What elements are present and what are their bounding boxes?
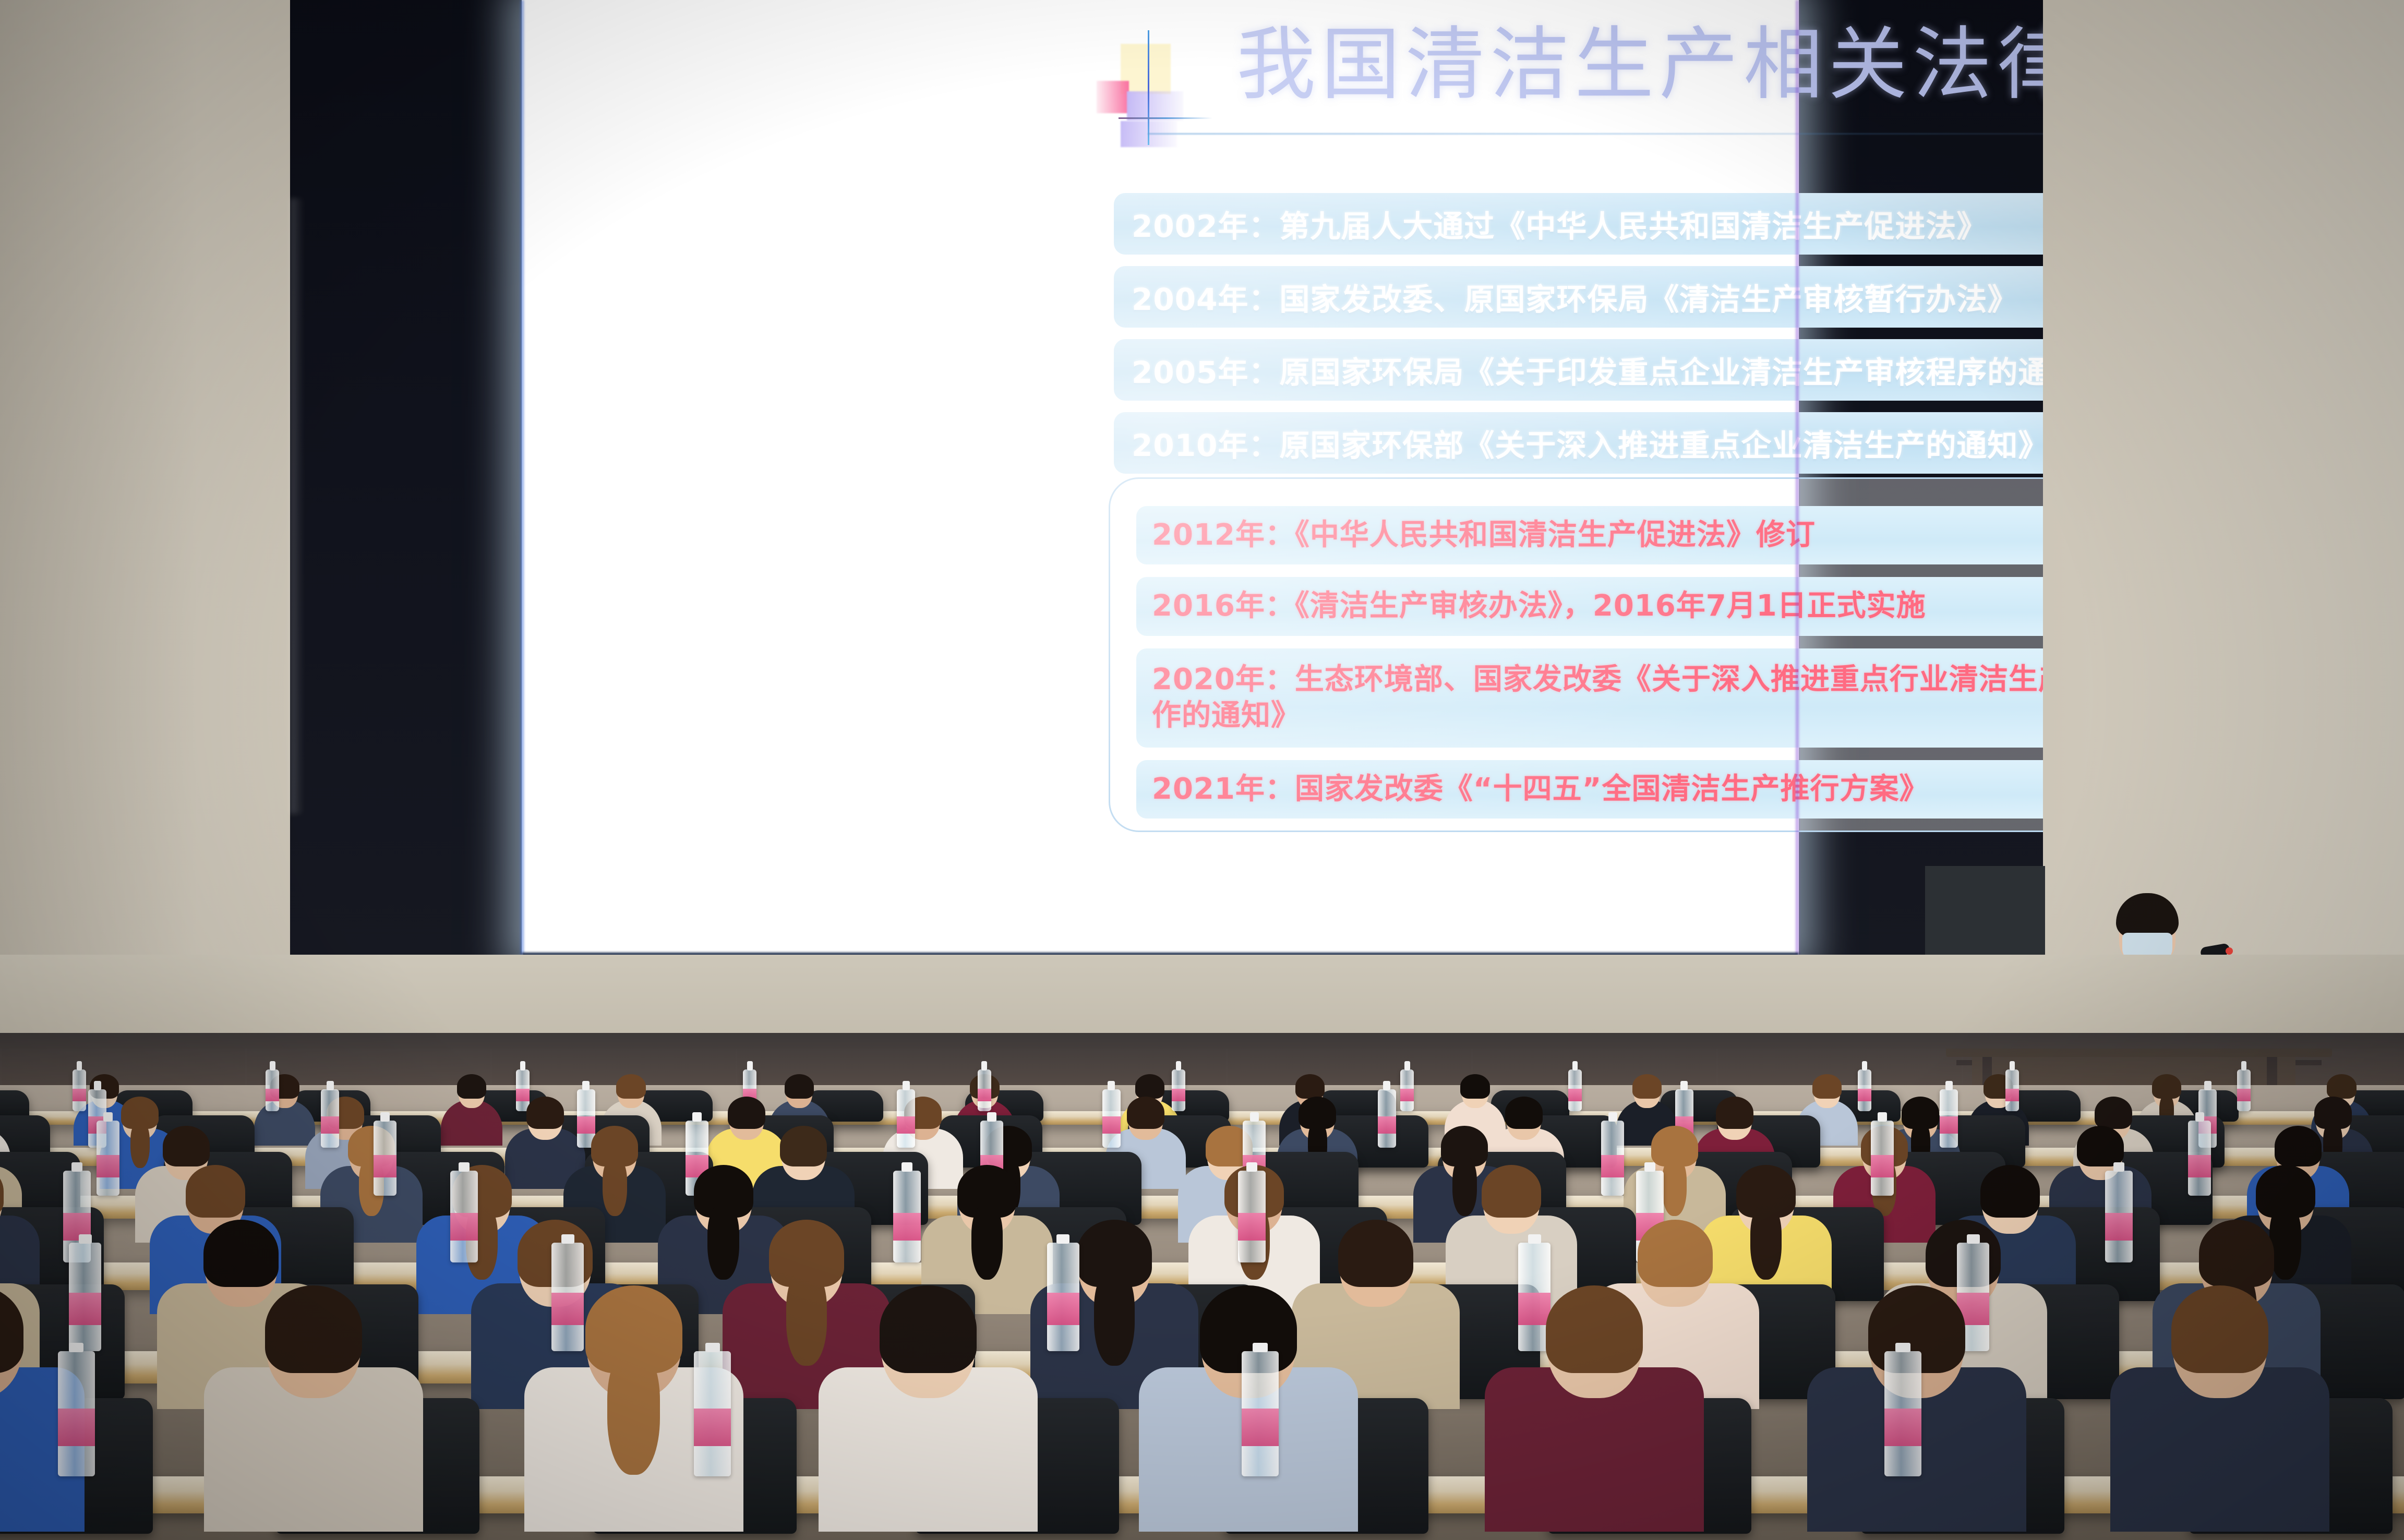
screen-right-edge bbox=[1796, 0, 1799, 956]
bottle-label bbox=[1047, 1293, 1079, 1325]
audience-person-hair bbox=[880, 1285, 977, 1373]
audience-person-hair bbox=[2077, 1126, 2124, 1166]
water-bottle bbox=[2188, 1121, 2211, 1196]
water-bottle bbox=[374, 1121, 396, 1196]
audience-person-hair bbox=[1135, 1074, 1164, 1099]
water-bottle bbox=[897, 1089, 915, 1148]
audience-person-hair bbox=[2095, 1097, 2132, 1129]
audience-person-ponytail bbox=[786, 1269, 826, 1366]
audience-person-hair bbox=[1460, 1074, 1489, 1099]
timeline-top-group: 2002年：第九届人大通过《中华人民共和国清洁生产促进法》 2004年：国家发改… bbox=[1114, 193, 2173, 485]
audience-person-ponytail bbox=[971, 1204, 1003, 1280]
water-bottle bbox=[321, 1089, 339, 1148]
bottle-label bbox=[1238, 1213, 1266, 1241]
bottle-label bbox=[978, 1089, 991, 1101]
projection-screen: 我国清洁生产相关法律沿革 2002年：第九届人大通过《中华人民共和国清洁生产促进… bbox=[522, 0, 1799, 956]
bottle-label bbox=[2188, 1155, 2211, 1177]
microphone-tip-icon bbox=[2226, 947, 2233, 955]
timeline-item-label: 2012年：《中华人民共和国清洁生产促进法》修订 bbox=[1152, 518, 1816, 553]
bottle-label bbox=[2237, 1089, 2251, 1101]
bottle-label bbox=[1601, 1155, 1624, 1177]
timeline-item: 2021年：国家发改委《“十四五”全国清洁生产推行方案》 bbox=[1136, 760, 2174, 819]
bottle-label bbox=[1400, 1089, 1414, 1101]
timeline-item-label: 2005年：原国家环保局《关于印发重点企业清洁生产审核程序的通知》 bbox=[1132, 348, 2110, 392]
water-bottle bbox=[694, 1351, 731, 1476]
audience-person-hair bbox=[1638, 1220, 1713, 1287]
water-bottle bbox=[2005, 1069, 2019, 1111]
bottle-label bbox=[1871, 1155, 1894, 1177]
audience-person-hair bbox=[186, 1165, 245, 1218]
water-bottle bbox=[2237, 1069, 2251, 1111]
audience-person-ponytail bbox=[603, 1157, 627, 1216]
audience-person-hair bbox=[2171, 1285, 2268, 1373]
water-bottle bbox=[69, 1243, 101, 1351]
audience-person-hair bbox=[1505, 1097, 1543, 1129]
water-bottle bbox=[266, 1069, 279, 1111]
bottle-label bbox=[1242, 1409, 1279, 1446]
timeline-item: 2012年：《中华人民共和国清洁生产促进法》修订 bbox=[1136, 506, 2174, 564]
audience-person-ponytail bbox=[1750, 1204, 1782, 1280]
audience-person-hair bbox=[1632, 1074, 1662, 1099]
water-bottle bbox=[73, 1069, 86, 1111]
logo-square-pink bbox=[1097, 81, 1129, 113]
water-bottle bbox=[97, 1121, 119, 1196]
water-bottle bbox=[58, 1351, 95, 1476]
timeline-item-label: 2002年：第九届人大通过《中华人民共和国清洁生产促进法》 bbox=[1132, 202, 1987, 246]
screen-left-edge bbox=[521, 0, 524, 956]
water-bottle bbox=[1378, 1089, 1396, 1148]
podium-back-wall bbox=[2043, 0, 2404, 991]
water-bottle bbox=[1871, 1121, 1894, 1196]
timeline-item-label: 2004年：国家发改委、原国家环保局《清洁生产审核暂行办法》 bbox=[1132, 275, 2018, 319]
audience-person-hair bbox=[163, 1126, 210, 1166]
bottle-label bbox=[1884, 1409, 1921, 1446]
timeline-item-label: 2021年：国家发改委《“十四五”全国清洁生产推行方案》 bbox=[1152, 772, 1929, 807]
bottle-label bbox=[1378, 1116, 1396, 1134]
bottle-label bbox=[1102, 1116, 1121, 1134]
audience-person-hair bbox=[728, 1097, 765, 1129]
audience-person-hair bbox=[203, 1220, 279, 1287]
water-bottle bbox=[1568, 1069, 1582, 1111]
audience-person-hair bbox=[526, 1097, 564, 1129]
water-bottle bbox=[978, 1069, 991, 1111]
timeline-item: 2005年：原国家环保局《关于印发重点企业清洁生产审核程序的通知》 bbox=[1114, 339, 2173, 401]
title-underline bbox=[1148, 133, 2160, 135]
audience-person-hair bbox=[1716, 1097, 1753, 1129]
bottle-label bbox=[321, 1116, 339, 1134]
audience-person-hair bbox=[265, 1285, 362, 1373]
water-bottle bbox=[450, 1171, 478, 1262]
bottle-label bbox=[1858, 1089, 1871, 1101]
bottle-label bbox=[516, 1089, 530, 1101]
bottle-label bbox=[266, 1089, 279, 1101]
timeline-item: 2020年：生态环境部、国家发改委《关于深入推进重点行业清洁生产审核工作的通知》 bbox=[1136, 648, 2174, 748]
audience-person-hair bbox=[780, 1126, 827, 1166]
bottle-label bbox=[1568, 1089, 1582, 1101]
audience-person-ponytail bbox=[1662, 1157, 1687, 1216]
bottle-label bbox=[1172, 1089, 1185, 1101]
decorative-squares-logo bbox=[1064, 21, 1221, 172]
audience-person-hair bbox=[616, 1074, 645, 1099]
bottle-label bbox=[1518, 1293, 1550, 1325]
timeline-bottom-group: 2012年：《中华人民共和国清洁生产促进法》修订 2016年：《清洁生产审核办法… bbox=[1136, 506, 2174, 831]
timeline-item: 2002年：第九届人大通过《中华人民共和国清洁生产促进法》 bbox=[1114, 193, 2173, 255]
timeline-item: 2016年：《清洁生产审核办法》，2016年7月1日正式实施 bbox=[1136, 577, 2174, 635]
audience-person-hair bbox=[2275, 1126, 2322, 1166]
audience-person-ponytail bbox=[1094, 1269, 1134, 1366]
audience-person-hair bbox=[2327, 1074, 2356, 1099]
audience-person-hair bbox=[1338, 1220, 1413, 1287]
audience-person-ponytail bbox=[707, 1204, 739, 1280]
bottle-label bbox=[1940, 1116, 1958, 1134]
screenshot-root: 我国清洁生产相关法律沿革 2002年：第九届人大通过《中华人民共和国清洁生产促进… bbox=[0, 0, 2404, 1540]
bottle-label bbox=[694, 1409, 731, 1446]
audience-person-hair bbox=[1546, 1285, 1643, 1373]
audience-person-hair bbox=[1295, 1074, 1325, 1099]
water-bottle bbox=[1047, 1243, 1079, 1351]
water-bottle bbox=[1242, 1351, 1279, 1476]
presenter-hair bbox=[2116, 893, 2179, 937]
water-bottle bbox=[893, 1171, 921, 1262]
audience-person-ponytail bbox=[130, 1122, 150, 1168]
timeline-item-label: 2020年：生态环境部、国家发改委《关于深入推进重点行业清洁生产审核工作的通知》 bbox=[1152, 662, 2159, 733]
bottle-label bbox=[2005, 1089, 2019, 1101]
audience-person-ponytail bbox=[1452, 1157, 1477, 1216]
water-bottle bbox=[1400, 1069, 1414, 1111]
audience-person-hair bbox=[1482, 1165, 1541, 1218]
audience-person-hair bbox=[1812, 1074, 1842, 1099]
audience-area bbox=[0, 955, 2404, 1540]
audience-person-ponytail bbox=[2269, 1204, 2301, 1280]
audience-person-hair bbox=[1980, 1165, 2040, 1218]
logo-vertical-line bbox=[1148, 30, 1149, 145]
bottle-label bbox=[893, 1213, 921, 1241]
audience-person-hair bbox=[457, 1074, 486, 1099]
bottle-label bbox=[97, 1155, 119, 1177]
audience-person-hair bbox=[785, 1074, 814, 1099]
bottle-label bbox=[69, 1293, 101, 1325]
bottle-label bbox=[374, 1155, 396, 1177]
water-bottle bbox=[1238, 1171, 1266, 1262]
timeline-item-label: 2016年：《清洁生产审核办法》，2016年7月1日正式实施 bbox=[1152, 588, 1926, 624]
bottle-label bbox=[2105, 1213, 2133, 1241]
logo-square-purple-upper bbox=[1127, 91, 1183, 121]
audience-person-hair bbox=[1127, 1097, 1164, 1129]
water-bottle bbox=[516, 1069, 530, 1111]
water-bottle bbox=[1858, 1069, 1871, 1111]
timeline-item: 2004年：国家发改委、原国家环保局《清洁生产审核暂行办法》 bbox=[1114, 266, 2173, 328]
water-bottle bbox=[1601, 1121, 1624, 1196]
bottle-label bbox=[73, 1089, 86, 1101]
water-bottle bbox=[1940, 1089, 1958, 1148]
water-bottle bbox=[1172, 1069, 1185, 1111]
bottle-label bbox=[551, 1293, 584, 1325]
water-bottle bbox=[1102, 1089, 1121, 1148]
left-wall-shadow bbox=[0, 0, 198, 1043]
water-bottle bbox=[2105, 1171, 2133, 1262]
logo-horizontal-line bbox=[1119, 117, 1212, 119]
surround-sheen bbox=[290, 198, 304, 814]
bottle-label bbox=[577, 1116, 595, 1134]
water-bottle bbox=[1884, 1351, 1921, 1476]
timeline-item-label: 2010年：原国家环保部《关于深入推进重点企业清洁生产的通知》 bbox=[1132, 421, 2049, 465]
slide-canvas: 我国清洁生产相关法律沿革 2002年：第九届人大通过《中华人民共和国清洁生产促进… bbox=[522, 0, 1799, 956]
bottle-label bbox=[58, 1409, 95, 1446]
water-bottle bbox=[551, 1243, 584, 1351]
bottle-label bbox=[450, 1213, 478, 1241]
bottle-label bbox=[897, 1116, 915, 1134]
timeline-item: 2010年：原国家环保部《关于深入推进重点企业清洁生产的通知》 bbox=[1114, 412, 2173, 474]
audience-person-ponytail bbox=[607, 1349, 660, 1475]
